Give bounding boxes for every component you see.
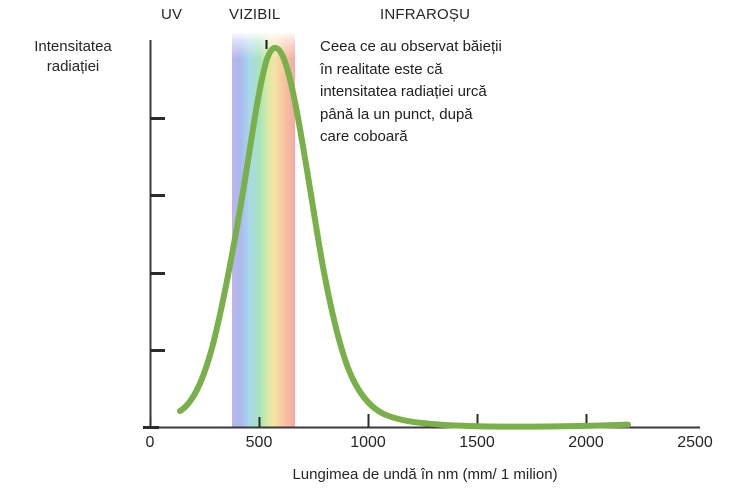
x-tick-label-500: 500 [229,434,289,452]
annotation-line-4: până la un punct, după [320,104,550,127]
x-axis-title: Lungimea de undă în nm (mm/ 1 milion) [150,466,700,483]
radiation-intensity-chart: UV VIZIBIL INFRAROȘU Intensitatea radiaț… [0,0,732,500]
annotation-text: Ceea ce au observat băieții în realitate… [320,36,550,149]
x-tick-label-1500: 1500 [447,434,507,452]
annotation-line-1: Ceea ce au observat băieții [320,36,550,59]
annotation-line-5: care coboară [320,126,550,149]
x-tick-label-2000: 2000 [556,434,616,452]
x-tick-label-0: 0 [120,434,180,452]
x-tick-label-1000: 1000 [338,434,398,452]
annotation-line-3: intensitatea radiației urcă [320,81,550,104]
annotation-line-2: în realitate este că [320,59,550,82]
y-axis-ticks [143,119,165,428]
x-tick-label-2500: 2500 [665,434,725,452]
